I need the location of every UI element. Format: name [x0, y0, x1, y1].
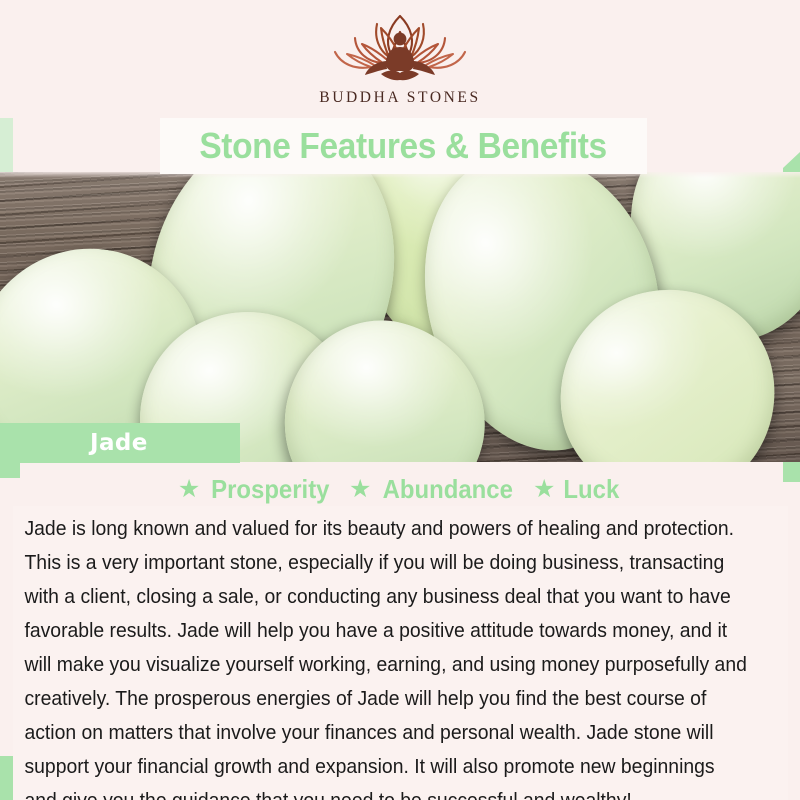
- benefit-label: Prosperity: [211, 474, 329, 505]
- description-text: Jade is long known and valued for its be…: [13, 508, 753, 800]
- brand-wordmark: BUDDHA STONES: [319, 89, 480, 107]
- lotus-meditation-icon: [325, 12, 475, 86]
- stone-benefits-card: BUDDHA STONES Stone Features & Benefits …: [0, 0, 800, 800]
- benefit-item-luck: ★ Luck: [533, 474, 622, 505]
- star-icon: ★: [178, 477, 200, 502]
- brand-header: BUDDHA STONES: [0, 0, 800, 118]
- stone-name-label: Jade: [90, 430, 148, 456]
- benefit-label: Luck: [564, 474, 620, 505]
- benefits-row: ★ Prosperity ★ Abundance ★ Luck: [0, 474, 800, 505]
- benefit-label: Abundance: [383, 474, 513, 505]
- description-panel: Jade is long known and valued for its be…: [13, 506, 788, 800]
- star-icon: ★: [533, 477, 555, 502]
- page-title: Stone Features & Benefits: [200, 128, 607, 164]
- stone-name-bar: Jade: [0, 423, 240, 463]
- title-banner: Stone Features & Benefits: [160, 118, 647, 174]
- benefit-item-abundance: ★ Abundance: [349, 474, 519, 505]
- star-icon: ★: [349, 477, 371, 502]
- jade-stones-photo: [0, 172, 800, 462]
- benefit-item-prosperity: ★ Prosperity: [178, 474, 335, 505]
